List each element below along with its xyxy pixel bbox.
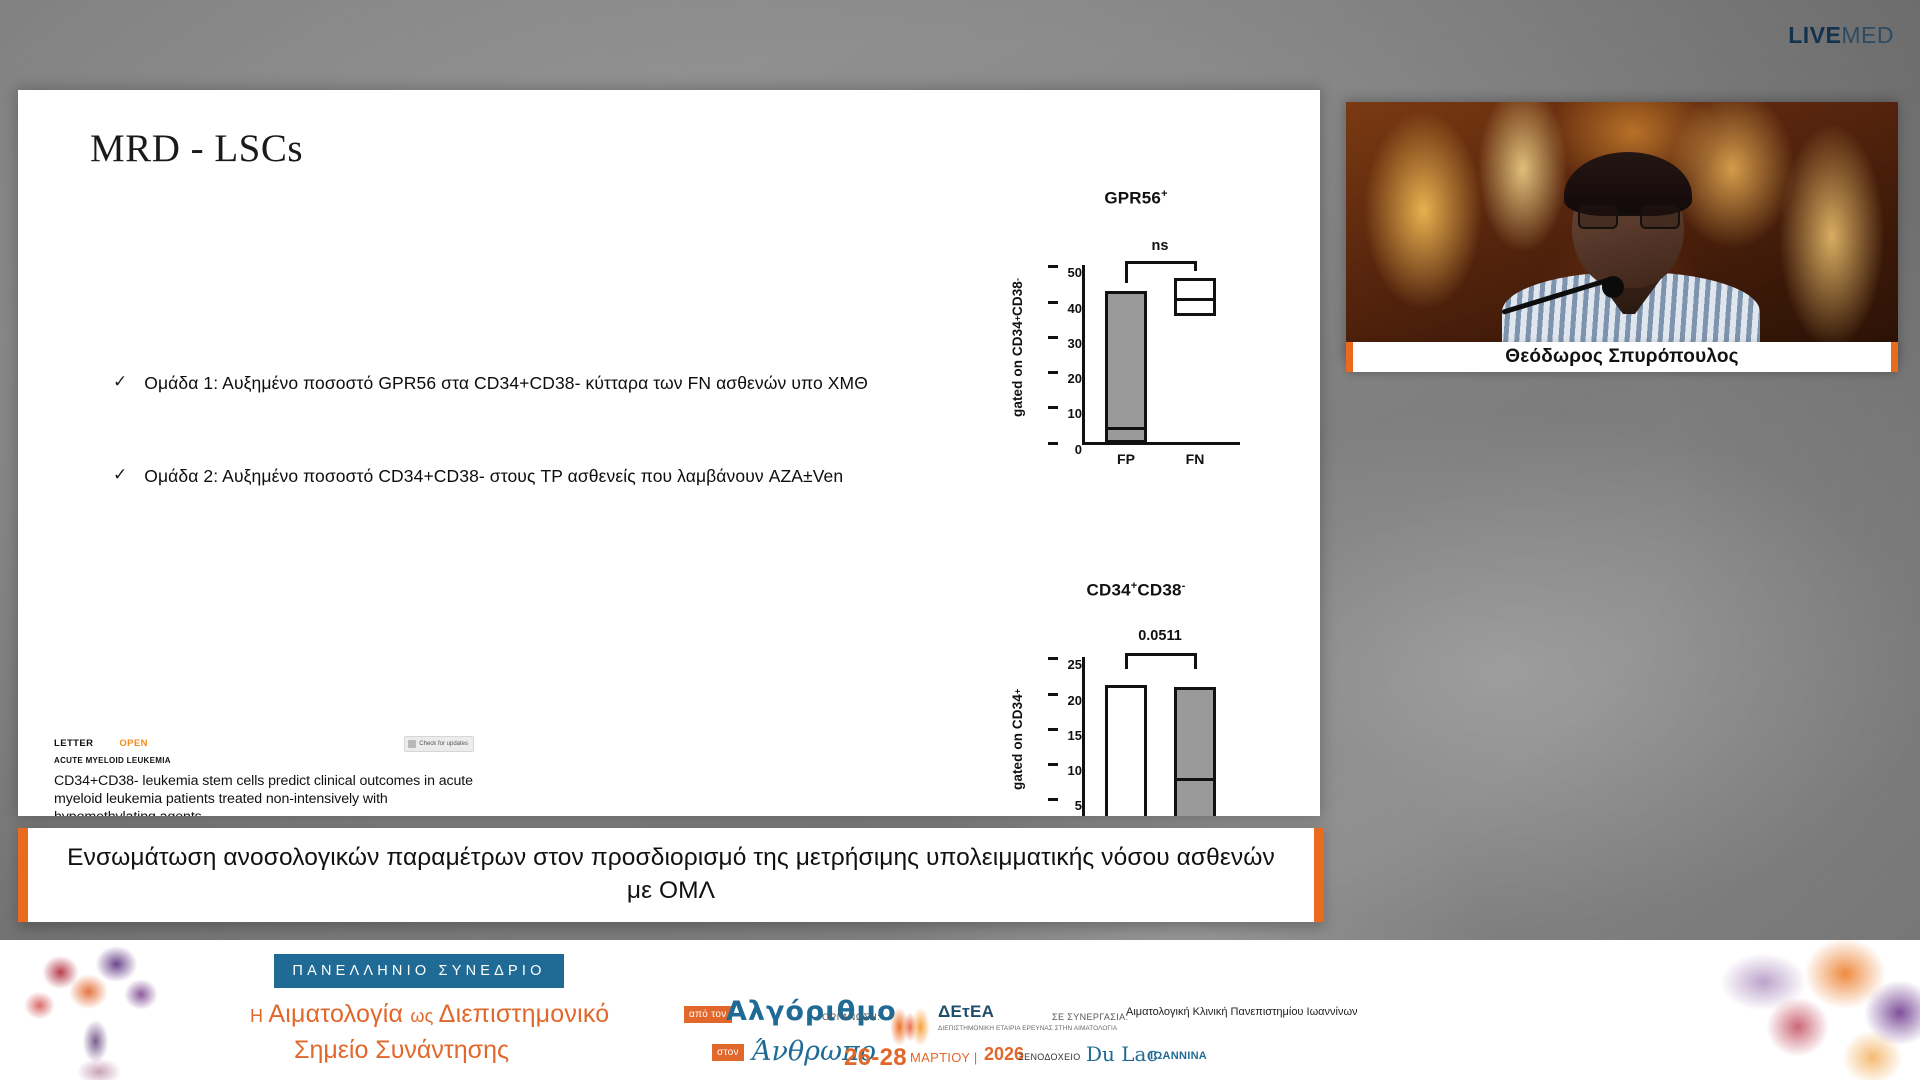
tree-artwork-left-icon	[8, 942, 183, 1080]
glasses-bridge	[1618, 213, 1640, 216]
ytick-40: 40	[1034, 301, 1082, 304]
conference-month: ΜΑΡΤΙΟΥ |	[910, 1050, 978, 1065]
chart-gpr56-plot: 0 10 20 30 40	[1058, 265, 1243, 445]
congress-title-line-1: Η Αιματολογία ως Διεπιστημονικό	[250, 1000, 609, 1029]
cooperation-label: ΣΕ ΣΥΝΕΡΓΑΣΙΑ:	[1052, 1012, 1128, 1022]
bracket-bar	[1125, 261, 1197, 264]
congress-title-part: ως	[410, 1006, 438, 1026]
congress-title-part: Διεπιστημονικό	[439, 1000, 610, 1028]
chart-cd34-plot: 0 5 10 15 20	[1058, 657, 1243, 816]
speaker-name-bar: Θεόδωρος Σπυρόπουλος	[1346, 342, 1898, 372]
ytick-5: 5	[1034, 798, 1082, 801]
ytick-50: 50	[1034, 265, 1082, 268]
y-axis-line	[1082, 265, 1085, 445]
slide-title: MRD - LSCs	[90, 126, 303, 171]
ytick-15: 15	[1034, 728, 1082, 731]
ylabel-sup: +	[1013, 316, 1023, 321]
presentation-slide: MRD - LSCs ✓ Ομάδα 1: Αυξημένο ποσοστό G…	[18, 90, 1320, 816]
ytick-mark	[1048, 301, 1058, 304]
ylabel-part: gated on CD34	[1010, 321, 1025, 417]
paper-citation-thumbnail: Check for updates LETTER OPEN ACUTE MYEL…	[54, 738, 474, 816]
bracket-leg-right	[1194, 261, 1197, 271]
ytick-mark	[1048, 728, 1058, 731]
glasses-lens-right	[1640, 204, 1680, 229]
checkmark-icon: ✓	[113, 465, 127, 485]
paper-open-access-label: OPEN	[119, 738, 148, 749]
session-title-banner: Ενσωμάτωση ανοσολογικών παραμέτρων στον …	[18, 828, 1324, 922]
ytick-label: 10	[1056, 763, 1082, 778]
ytick-label: 20	[1056, 371, 1082, 386]
microphone-head	[1602, 276, 1624, 298]
boxplot-fp-median	[1105, 427, 1147, 430]
ytick-label: 10	[1056, 406, 1082, 421]
significance-label-cd34: 0.0511	[1115, 628, 1205, 644]
bullet-item-1: ✓ Ομάδα 1: Αυξημένο ποσοστό GPR56 στα CD…	[113, 372, 993, 395]
ytick-mark	[1048, 265, 1058, 268]
cooperation-name: Αιματολογική Κλινική Πανεπιστημίου Ιωανν…	[1126, 1004, 1358, 1021]
boxplot-fn	[1174, 278, 1216, 316]
boxplot-tp-median	[1174, 778, 1216, 781]
chart-cd34-title: CD34+CD38-	[1016, 580, 1256, 601]
bracket-leg-right	[1194, 653, 1197, 669]
ylabel-sup: +	[1013, 689, 1023, 694]
ytick-30: 30	[1034, 336, 1082, 339]
bracket-leg-left	[1125, 653, 1128, 669]
boxplot-tp	[1174, 687, 1216, 816]
ytick-label: 15	[1056, 728, 1082, 743]
ytick-10: 10	[1034, 763, 1082, 766]
congress-tag: ΠΑΝΕΛΛΗΝΙΟ ΣΥΝΕΔΡΙΟ	[274, 954, 564, 988]
ytick-label: 5	[1056, 798, 1082, 813]
bullet-text-2: Ομάδα 2: Αυξημένο ποσοστό CD34+CD38- στο…	[144, 465, 843, 488]
ytick-label: 0	[1056, 442, 1082, 457]
ytick-label: 30	[1056, 336, 1082, 351]
logo-med-text: MED	[1841, 22, 1894, 48]
organizer-subtitle: ΔΙΕΠΙΣΤΗΜΟΝΙΚΗ ΕΤΑΙΡΙΑ ΕΡΕΥΝΑΣ ΣΤΗΝ ΑΙΜΑ…	[938, 1024, 1117, 1033]
tree-artwork-right-icon	[1580, 940, 1920, 1080]
paper-type-label: LETTER	[54, 738, 93, 749]
y-axis-line	[1082, 657, 1085, 816]
bullet-item-2: ✓ Ομάδα 2: Αυξημένο ποσοστό CD34+CD38- σ…	[113, 465, 993, 488]
refresh-icon	[408, 740, 416, 748]
chart-gpr56-title-base: GPR56	[1104, 189, 1161, 208]
ytick-10: 10	[1034, 406, 1082, 409]
chart-gpr56-title-sup: +	[1161, 188, 1168, 200]
chart-cd34-body: gated on CD34+ 0 5 10 15	[1016, 605, 1256, 816]
ytick-mark	[1048, 693, 1058, 696]
ytick-mark	[1048, 406, 1058, 409]
chart-gpr56: GPR56+ gated on CD34+CD38- 0 10 20	[1016, 188, 1256, 488]
boxplot-fp	[1105, 685, 1147, 816]
congress-title-part: Η	[250, 1006, 268, 1026]
ytick-mark	[1048, 657, 1058, 660]
chart-cd34-title-base2: CD38	[1137, 581, 1181, 600]
organizer-label: ΟΡΓΑΝΩΣΗ:	[822, 1012, 880, 1023]
chart-cd34-title-base1: CD34	[1086, 581, 1130, 600]
ytick-25: 25	[1034, 657, 1082, 660]
ytick-mark	[1048, 371, 1058, 374]
xtick-label-fn: FN	[1165, 451, 1225, 467]
ytick-mark	[1048, 442, 1058, 445]
significance-bracket-gpr56	[1105, 261, 1216, 283]
significance-bracket-cd34	[1105, 653, 1216, 679]
ytick-20: 20	[1034, 371, 1082, 374]
venue-name: Du Lac	[1086, 1042, 1158, 1066]
speaker-video[interactable]	[1346, 102, 1898, 360]
algorithm-chip-2: στον	[712, 1044, 744, 1061]
check-updates-label: Check for updates	[419, 741, 468, 747]
venue-label: ΞΕΝΟΔΟΧΕΙΟ	[1018, 1052, 1081, 1062]
bracket-leg-left	[1125, 261, 1128, 283]
speaker-figure	[1496, 160, 1766, 360]
conference-footer: ΠΑΝΕΛΛΗΝΙΟ ΣΥΝΕΔΡΙΟ Η Αιματολογία ως Διε…	[0, 940, 1920, 1080]
ylabel-sup: -	[1013, 278, 1023, 281]
session-title-text: Ενσωμάτωση ανοσολογικών παραμέτρων στον …	[62, 842, 1280, 908]
logo-live-text: LIVE	[1788, 22, 1841, 48]
chart-cd34-ylabel: gated on CD34+	[1010, 657, 1025, 816]
conference-dates: 26-28	[844, 1044, 907, 1072]
chart-gpr56-ylabel: gated on CD34+CD38-	[1010, 265, 1025, 430]
ytick-mark	[1048, 336, 1058, 339]
xtick-label-fp: FP	[1096, 451, 1156, 467]
significance-label-gpr56: ns	[1115, 238, 1205, 254]
check-for-updates-badge: Check for updates	[404, 736, 474, 752]
chart-gpr56-title: GPR56+	[1016, 188, 1256, 209]
chart-gpr56-body: gated on CD34+CD38- 0 10 20	[1016, 213, 1256, 469]
ylabel-part: CD38	[1010, 281, 1025, 316]
glasses-icon	[1578, 204, 1680, 230]
ytick-mark	[1048, 763, 1058, 766]
ytick-mark	[1048, 798, 1058, 801]
bracket-bar	[1125, 653, 1197, 656]
paper-title: CD34+CD38- leukemia stem cells predict c…	[54, 772, 474, 816]
organizer-name: ΔΕτΕΑ	[938, 1002, 994, 1022]
livemed-logo: LIVEMED	[1788, 22, 1894, 49]
boxplot-fp	[1105, 291, 1147, 443]
ytick-label: 20	[1056, 693, 1082, 708]
congress-title-part: Αιματολογία	[268, 1000, 410, 1028]
ytick-0: 0	[1034, 442, 1082, 445]
chart-cd34-cd38: CD34+CD38- gated on CD34+ 0 5 10	[1016, 580, 1256, 816]
glasses-lens-left	[1578, 204, 1618, 229]
boxplot-fn-median	[1174, 298, 1216, 301]
ytick-label: 40	[1056, 301, 1082, 316]
ytick-20: 20	[1034, 693, 1082, 696]
paper-subject-label: ACUTE MYELOID LEUKEMIA	[54, 756, 474, 765]
ylabel-part: gated on CD34	[1010, 694, 1025, 790]
chart-cd34-title-sup2: -	[1182, 580, 1186, 592]
venue-city: ΙΩΑΝΝΙΝΑ	[1150, 1050, 1207, 1062]
top-bar: LIVEMED	[0, 0, 1920, 70]
algorithm-chip-1: από τον	[684, 1006, 732, 1023]
ytick-label: 25	[1056, 657, 1082, 672]
checkmark-icon: ✓	[113, 372, 127, 392]
congress-title-line-2: Σημείο Συνάντησης	[294, 1036, 509, 1065]
speaker-name: Θεόδωρος Σπυρόπουλος	[1505, 346, 1739, 368]
ytick-label: 50	[1056, 265, 1082, 280]
bullet-text-1: Ομάδα 1: Αυξημένο ποσοστό GPR56 στα CD34…	[144, 372, 868, 395]
congress-tag-label: ΠΑΝΕΛΛΗΝΙΟ ΣΥΝΕΔΡΙΟ	[292, 963, 545, 979]
